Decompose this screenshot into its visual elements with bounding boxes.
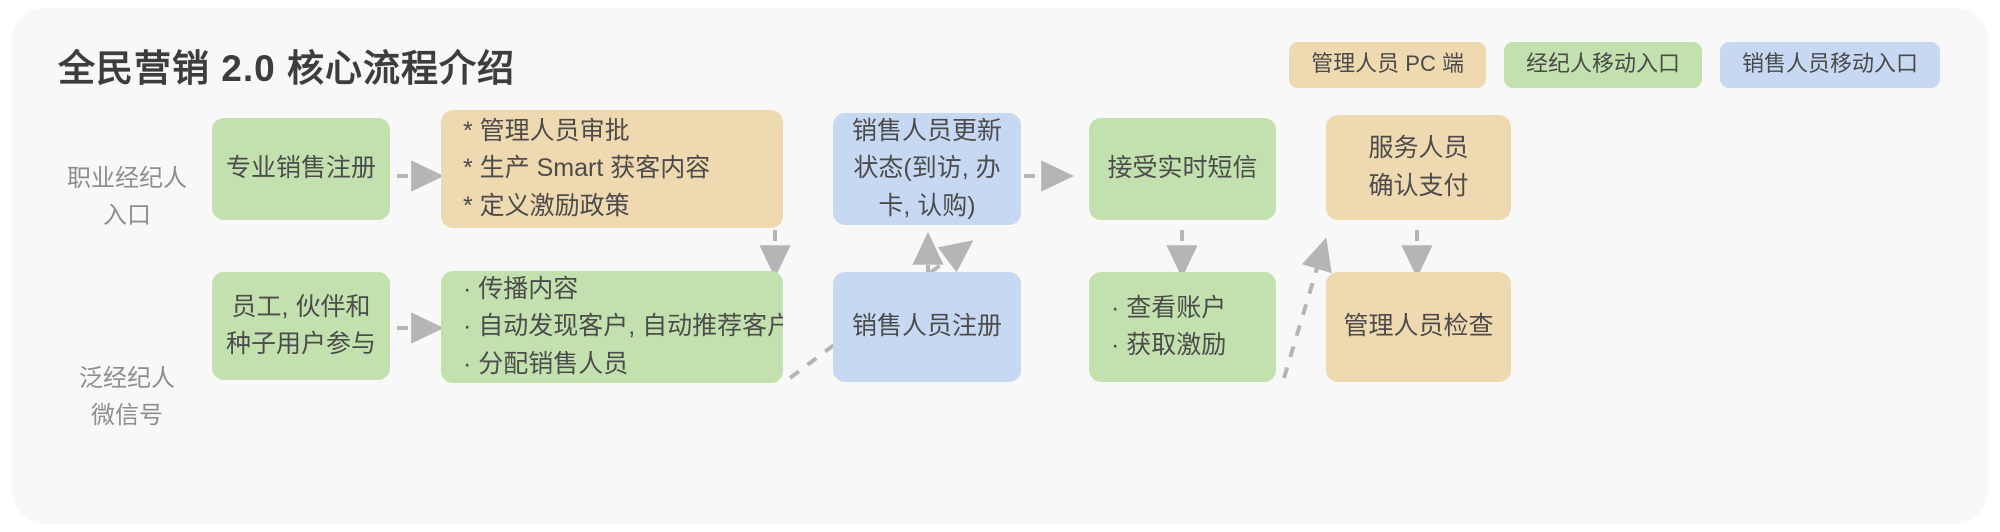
node-text-line: * 定义激励政策: [463, 188, 630, 226]
node-content-distribution-tasks[interactable]: · 传播内容 · 自动发现客户, 自动推荐客户 · 分配销售人员: [441, 271, 783, 383]
node-text-line: 状态(到访, 办: [853, 150, 1000, 188]
diagram-canvas: 全民营销 2.0 核心流程介绍 管理人员 PC 端 经纪人移动入口 销售人员移动…: [0, 0, 2000, 532]
node-text-line: 销售人员注册: [852, 308, 1002, 346]
connector-layer: [12, 8, 1988, 524]
node-text-line: 销售人员更新: [852, 113, 1002, 150]
node-text-line: · 传播内容: [463, 271, 578, 308]
node-manager-approval-tasks[interactable]: * 管理人员审批 * 生产 Smart 获客内容 * 定义激励政策: [441, 110, 783, 228]
node-professional-sales-register[interactable]: 专业销售注册: [212, 118, 390, 220]
node-text-line: · 获取激励: [1111, 327, 1226, 365]
node-text-line: 管理人员检查: [1343, 308, 1493, 346]
node-view-account-incentives[interactable]: · 查看账户 · 获取激励: [1089, 272, 1276, 382]
node-service-confirm-payment[interactable]: 服务人员 确认支付: [1326, 115, 1511, 220]
node-employee-partner-seed-users[interactable]: 员工, 伙伴和 种子用户参与: [212, 272, 390, 380]
node-text-line: 服务人员: [1368, 130, 1468, 168]
node-sales-update-status[interactable]: 销售人员更新 状态(到访, 办 卡, 认购): [833, 113, 1021, 225]
node-text-line: 确认支付: [1368, 168, 1468, 206]
node-text-line: 员工, 伙伴和: [232, 289, 371, 327]
connector-n8-n4: [1284, 245, 1324, 378]
node-text-line: · 自动发现客户, 自动推荐客户: [463, 308, 783, 346]
node-text-line: * 管理人员审批: [463, 113, 630, 151]
node-text-line: * 生产 Smart 获客内容: [463, 150, 710, 188]
node-text-line: 接受实时短信: [1107, 150, 1257, 188]
node-text-line: · 查看账户: [1111, 290, 1226, 328]
node-receive-realtime-sms[interactable]: 接受实时短信: [1089, 118, 1276, 220]
node-text-line: 种子用户参与: [226, 326, 376, 364]
node-sales-register[interactable]: 销售人员注册: [833, 272, 1021, 382]
node-text-line: · 分配销售人员: [463, 346, 628, 383]
node-text-line: 专业销售注册: [226, 150, 376, 188]
node-manager-inspection[interactable]: 管理人员检查: [1326, 272, 1511, 382]
node-text-line: 卡, 认购): [878, 188, 975, 225]
